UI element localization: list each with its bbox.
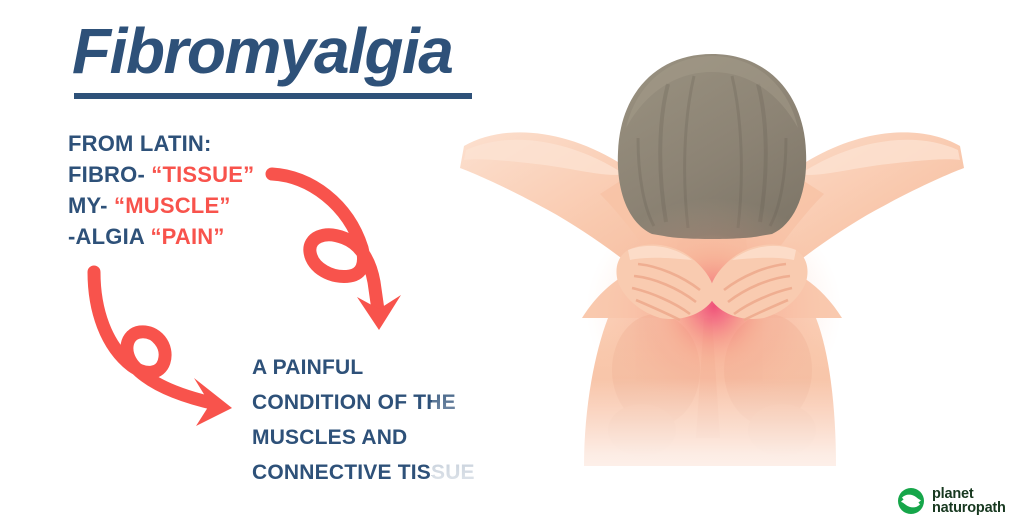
arrow-to-definition-upper-icon [262, 152, 422, 352]
etymology-meaning: “PAIN” [150, 224, 224, 249]
etymology-prefix: -ALGIA [68, 224, 144, 249]
etymology-meaning: “TISSUE” [151, 162, 254, 187]
logo-line-naturopath: naturopath [932, 501, 1006, 515]
etymology-prefix: FIBRO- [68, 162, 145, 187]
etymology-prefix: MY- [68, 193, 108, 218]
title-underline [74, 93, 472, 99]
person-back-view-illustration [432, 18, 992, 518]
infographic-canvas: Fibromyalgia FROM LATIN: FIBRO- “TISSUE”… [0, 0, 1023, 529]
anatomy-illustration [432, 18, 992, 518]
arrow-to-definition-lower-icon [76, 262, 276, 442]
etymology-meaning: “MUSCLE” [114, 193, 231, 218]
logo-line-planet: planet [932, 487, 1006, 501]
brand-logo[interactable]: planet naturopath [897, 483, 1023, 519]
logo-wordmark: planet naturopath [932, 487, 1006, 515]
leaf-circle-icon [897, 487, 925, 515]
